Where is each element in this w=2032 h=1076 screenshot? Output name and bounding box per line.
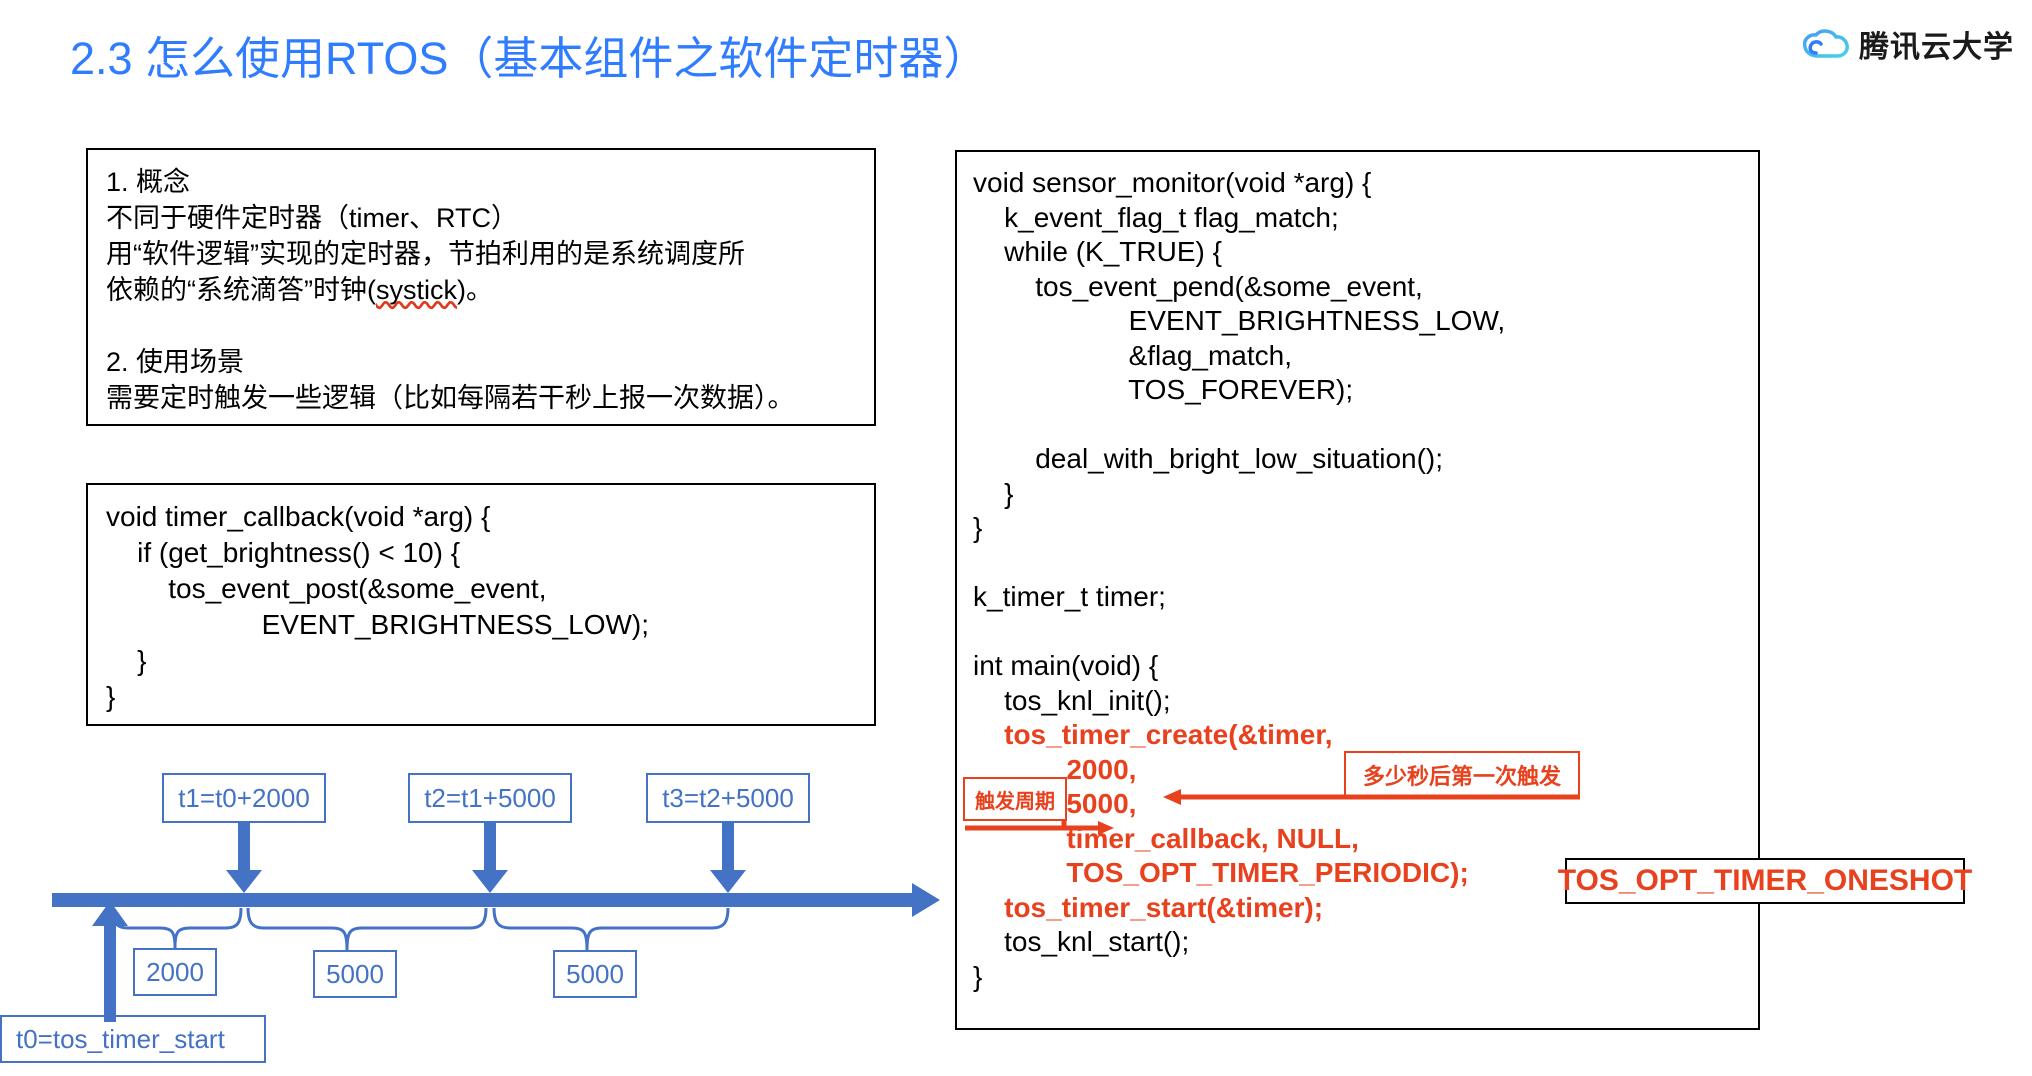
page-title: 2.3 怎么使用RTOS（基本组件之软件定时器） bbox=[70, 22, 988, 87]
concept-line-1: 1. 概念 bbox=[106, 164, 856, 200]
concept-line-3: 用“软件逻辑”实现的定时器，节拍利用的是系统调度所 bbox=[106, 236, 856, 272]
code-line: } bbox=[973, 511, 1758, 546]
annotation-oneshot-option: TOS_OPT_TIMER_ONESHOT bbox=[1565, 858, 1965, 904]
callback-code-line: } bbox=[106, 643, 856, 679]
concept-line-4: 依赖的“系统滴答”时钟(systick)。 bbox=[106, 272, 856, 308]
timeline-graphics bbox=[0, 760, 960, 1076]
concept-line-2: 不同于硬件定时器（timer、RTC） bbox=[106, 200, 856, 236]
code-line: int main(void) { bbox=[973, 649, 1758, 684]
code-line: tos_knl_init(); bbox=[973, 684, 1758, 719]
arrow-first-trigger-to-2000 bbox=[1155, 780, 1585, 816]
code-line: TOS_FOREVER); bbox=[973, 373, 1758, 408]
spellcheck-word-systick: systick bbox=[376, 275, 457, 305]
callback-code-line: tos_event_post(&some_event, bbox=[106, 571, 856, 607]
callback-code-panel: void timer_callback(void *arg) { if (get… bbox=[86, 483, 876, 726]
code-line: &flag_match, bbox=[973, 339, 1758, 374]
callback-code-line: } bbox=[106, 679, 856, 715]
code-line: EVENT_BRIGHTNESS_LOW, bbox=[973, 304, 1758, 339]
callback-code-line: if (get_brightness() < 10) { bbox=[106, 535, 856, 571]
concept-line-7: 需要定时触发一些逻辑（比如每隔若干秒上报一次数据）。 bbox=[106, 380, 856, 416]
code-line bbox=[973, 546, 1758, 581]
code-line: while (K_TRUE) { bbox=[973, 235, 1758, 270]
brand-name: 腾讯云大学 bbox=[1859, 22, 2014, 66]
code-line: k_timer_t timer; bbox=[973, 580, 1758, 615]
code-line bbox=[973, 408, 1758, 443]
code-line bbox=[973, 615, 1758, 650]
concept-panel: 1. 概念 不同于硬件定时器（timer、RTC） 用“软件逻辑”实现的定时器，… bbox=[86, 148, 876, 426]
concept-line-5 bbox=[106, 308, 856, 344]
code-line: tos_event_pend(&some_event, bbox=[973, 270, 1758, 305]
code-line: tos_knl_start(); bbox=[973, 925, 1758, 960]
arrow-period-to-5000 bbox=[960, 795, 1160, 835]
callback-code-line: EVENT_BRIGHTNESS_LOW); bbox=[106, 607, 856, 643]
code-line: } bbox=[973, 960, 1758, 995]
cloud-icon bbox=[1803, 29, 1849, 59]
code-line: k_event_flag_t flag_match; bbox=[973, 201, 1758, 236]
code-line: void sensor_monitor(void *arg) { bbox=[973, 166, 1758, 201]
timeline-diagram: t1=t0+2000 t2=t1+5000 t3=t2+5000 2000 50… bbox=[0, 760, 960, 1076]
code-line: deal_with_bright_low_situation(); bbox=[973, 442, 1758, 477]
code-line: tos_timer_create(&timer, bbox=[973, 718, 1758, 753]
code-line: } bbox=[973, 477, 1758, 512]
concept-line-4a: 依赖的“系统滴答”时钟( bbox=[106, 275, 376, 305]
concept-line-4b: )。 bbox=[457, 275, 493, 305]
callback-code-line: void timer_callback(void *arg) { bbox=[106, 499, 856, 535]
concept-line-6: 2. 使用场景 bbox=[106, 344, 856, 380]
brand-logo: 腾讯云大学 bbox=[1803, 22, 2014, 66]
